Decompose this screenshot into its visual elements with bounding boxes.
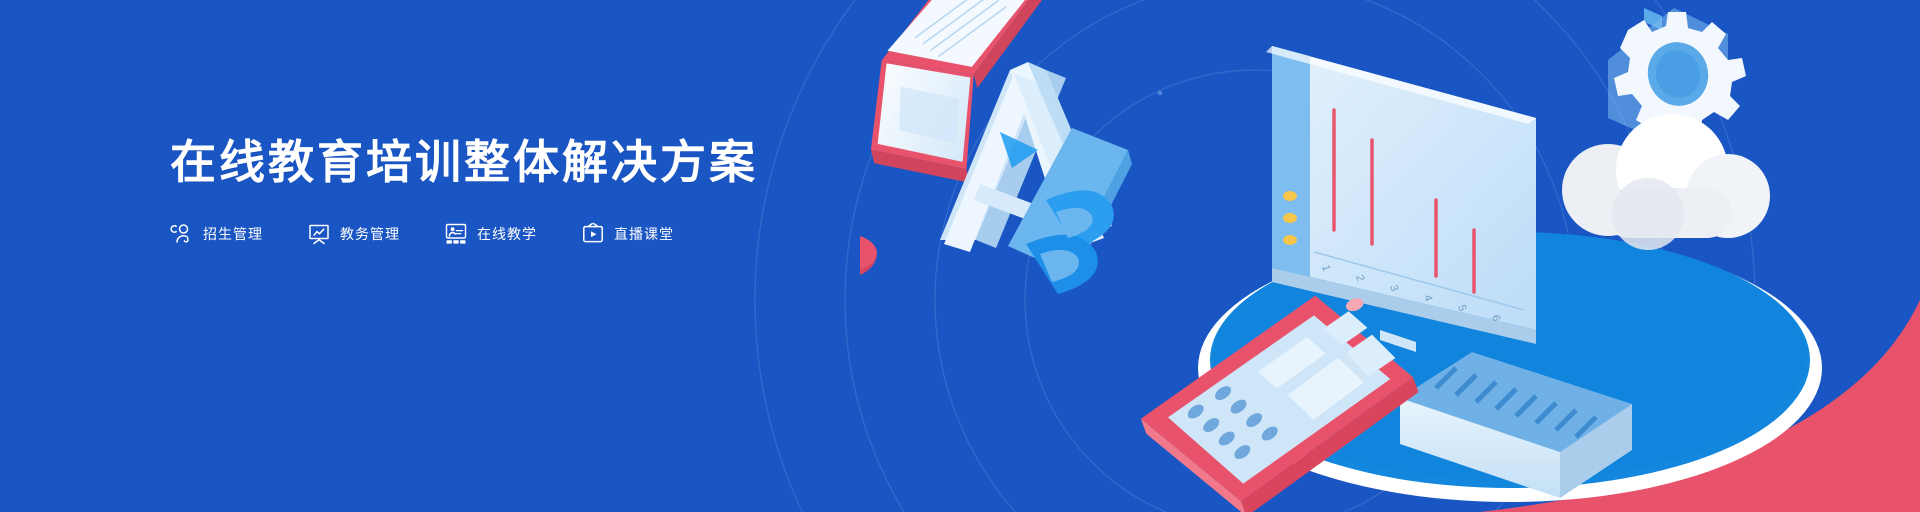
feature-label: 教务管理 xyxy=(340,227,400,241)
presentation-chart-icon xyxy=(307,222,331,246)
feature-label: 直播课堂 xyxy=(614,227,674,241)
classroom-teacher-icon xyxy=(444,222,468,246)
feature-label: 在线教学 xyxy=(477,227,537,241)
education-banner: 1 2 3 4 5 6 xyxy=(0,0,1920,512)
feature-label: 招生管理 xyxy=(203,227,263,241)
feature-list: 招生管理 教务管理 xyxy=(170,222,758,246)
spinning-top xyxy=(860,205,877,303)
feature-item-online-teaching[interactable]: 在线教学 xyxy=(444,222,537,246)
illustration-graphic: 1 2 3 4 5 6 xyxy=(860,0,1920,512)
tv-play-icon xyxy=(581,222,605,246)
feature-item-live-classroom[interactable]: 直播课堂 xyxy=(581,222,674,246)
users-icon xyxy=(170,222,194,246)
page-title: 在线教育培训整体解决方案 xyxy=(170,138,758,186)
cloud-large xyxy=(1562,114,1770,250)
feature-item-enrollment[interactable]: 招生管理 xyxy=(170,222,263,246)
feature-item-academic-affairs[interactable]: 教务管理 xyxy=(307,222,400,246)
banner-text-block: 在线教育培训整体解决方案 招生管理 xyxy=(170,138,758,246)
panel-dots xyxy=(1283,191,1297,245)
